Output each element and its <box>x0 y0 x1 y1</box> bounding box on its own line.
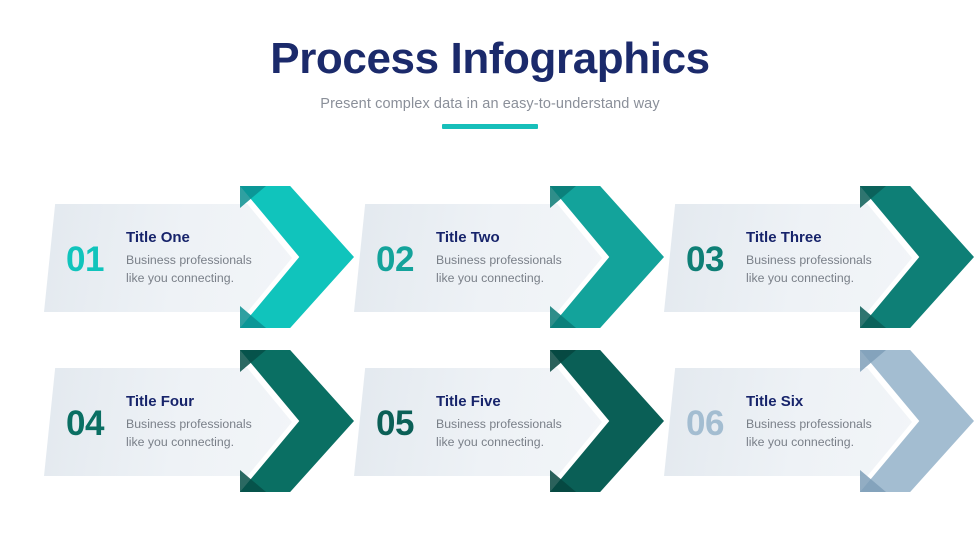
process-card[interactable]: 05Title FiveBusiness professionals like … <box>354 350 664 492</box>
infographic-slide: Process Infographics Present complex dat… <box>0 0 980 551</box>
card-content: 03Title ThreeBusiness professionals like… <box>664 204 912 312</box>
card-title: Title Three <box>746 229 906 247</box>
process-card-grid: 01Title OneBusiness professionals like y… <box>44 186 944 492</box>
card-title: Title One <box>126 229 286 247</box>
card-text: Title TwoBusiness professionals like you… <box>436 229 602 287</box>
card-content: 02Title TwoBusiness professionals like y… <box>354 204 602 312</box>
card-description: Business professionals like you connecti… <box>746 416 891 451</box>
card-description: Business professionals like you connecti… <box>436 416 581 451</box>
card-description: Business professionals like you connecti… <box>126 252 271 287</box>
card-content: 06Title SixBusiness professionals like y… <box>664 368 912 476</box>
accent-divider <box>442 124 538 129</box>
card-title: Title Two <box>436 229 596 247</box>
card-number: 05 <box>354 404 436 441</box>
card-title: Title Six <box>746 393 906 411</box>
card-title: Title Four <box>126 393 286 411</box>
card-number: 03 <box>664 240 746 277</box>
card-number: 01 <box>44 240 126 277</box>
card-content: 01Title OneBusiness professionals like y… <box>44 204 292 312</box>
card-title: Title Five <box>436 393 596 411</box>
card-content: 05Title FiveBusiness professionals like … <box>354 368 602 476</box>
card-description: Business professionals like you connecti… <box>746 252 891 287</box>
card-number: 02 <box>354 240 436 277</box>
process-card[interactable]: 03Title ThreeBusiness professionals like… <box>664 186 974 328</box>
slide-header: Process Infographics Present complex dat… <box>0 36 980 129</box>
process-card[interactable]: 06Title SixBusiness professionals like y… <box>664 350 974 492</box>
card-text: Title SixBusiness professionals like you… <box>746 393 912 451</box>
card-text: Title OneBusiness professionals like you… <box>126 229 292 287</box>
process-card[interactable]: 01Title OneBusiness professionals like y… <box>44 186 354 328</box>
card-number: 04 <box>44 404 126 441</box>
card-text: Title FourBusiness professionals like yo… <box>126 393 292 451</box>
page-subtitle: Present complex data in an easy-to-under… <box>0 96 980 112</box>
page-title: Process Infographics <box>0 36 980 82</box>
card-text: Title ThreeBusiness professionals like y… <box>746 229 912 287</box>
process-card[interactable]: 02Title TwoBusiness professionals like y… <box>354 186 664 328</box>
card-number: 06 <box>664 404 746 441</box>
card-text: Title FiveBusiness professionals like yo… <box>436 393 602 451</box>
card-content: 04Title FourBusiness professionals like … <box>44 368 292 476</box>
card-description: Business professionals like you connecti… <box>436 252 581 287</box>
card-description: Business professionals like you connecti… <box>126 416 271 451</box>
process-card[interactable]: 04Title FourBusiness professionals like … <box>44 350 354 492</box>
